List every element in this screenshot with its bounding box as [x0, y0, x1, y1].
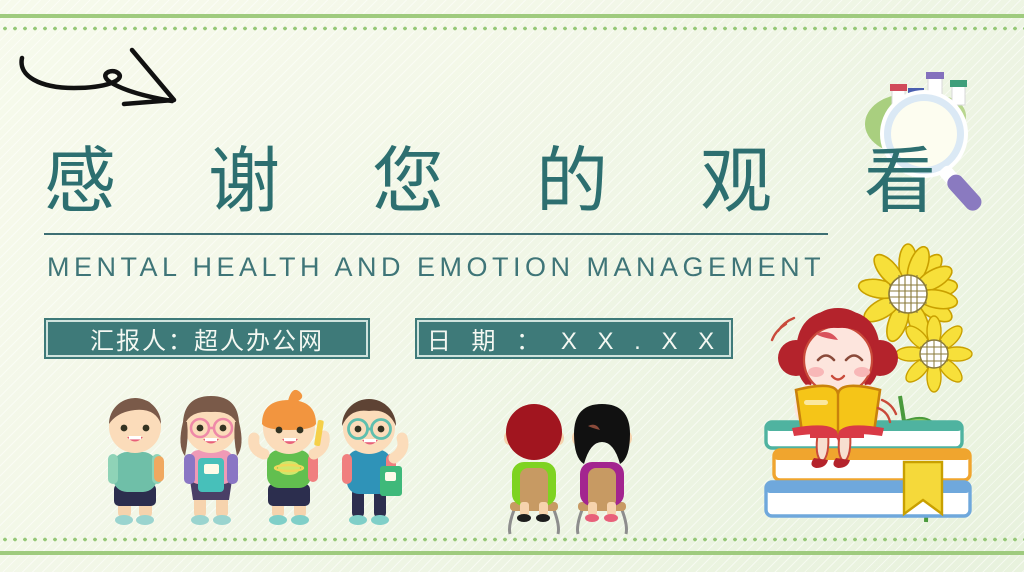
date-badge: 日 期 ： X X . X X	[415, 318, 733, 359]
title-divider	[44, 233, 828, 235]
girl-reading-on-book-stack-illustration	[752, 272, 1024, 544]
presenter-badge: 汇报人：超人办公网	[44, 318, 370, 359]
top-dotted-line	[0, 26, 1024, 31]
bottom-border-line	[0, 551, 1024, 555]
hand-drawn-arrow-icon	[14, 48, 184, 110]
date-label: 日 期 ： X X . X X	[417, 320, 731, 357]
page-title: 感 谢 您 的 观 看	[44, 146, 874, 218]
top-border-line	[0, 14, 1024, 18]
presenter-label: 汇报人：超人办公网	[46, 320, 368, 357]
four-standing-children-illustration	[96, 392, 416, 537]
two-seated-children-back-view-illustration	[492, 398, 642, 538]
presentation-slide: 感 谢 您 的 观 看 MENTAL HEALTH AND EMOTION MA…	[0, 0, 1024, 572]
book-stack	[766, 422, 970, 516]
